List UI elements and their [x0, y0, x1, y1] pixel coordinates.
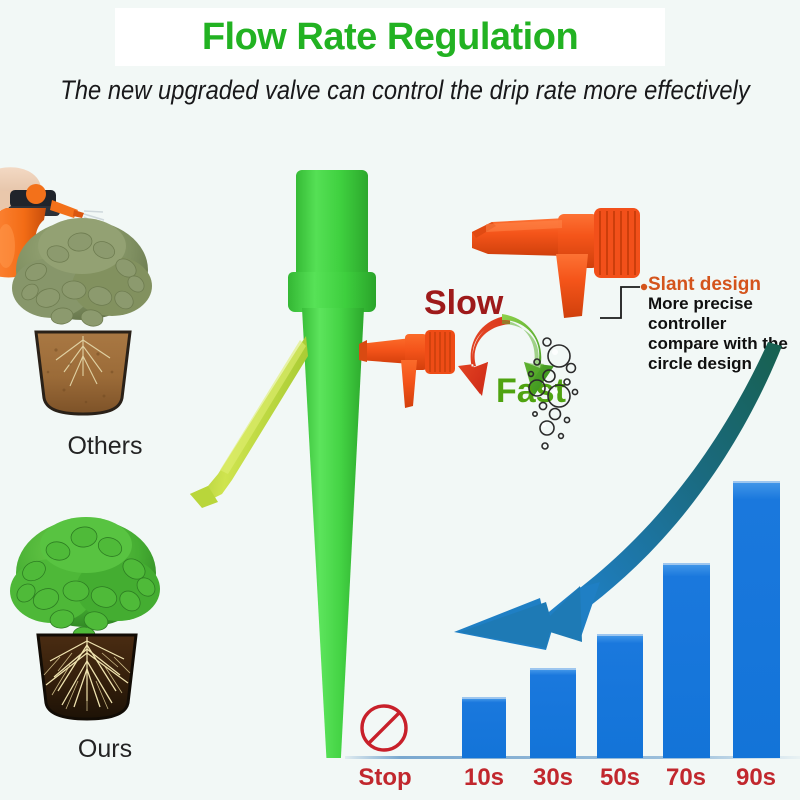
bar-chart: [0, 0, 800, 758]
bar-90s: [733, 481, 780, 758]
bar-70s: [663, 563, 710, 758]
bar-50s: [597, 634, 643, 758]
bar-30s: [530, 668, 576, 758]
bar-label-90s: 90s: [715, 764, 797, 792]
bar-10s: [462, 697, 506, 758]
infographic-canvas: Flow Rate Regulation The new upgraded va…: [0, 0, 800, 800]
bar-label-stop: Stop: [344, 764, 426, 792]
no-entry-icon: [358, 702, 410, 754]
